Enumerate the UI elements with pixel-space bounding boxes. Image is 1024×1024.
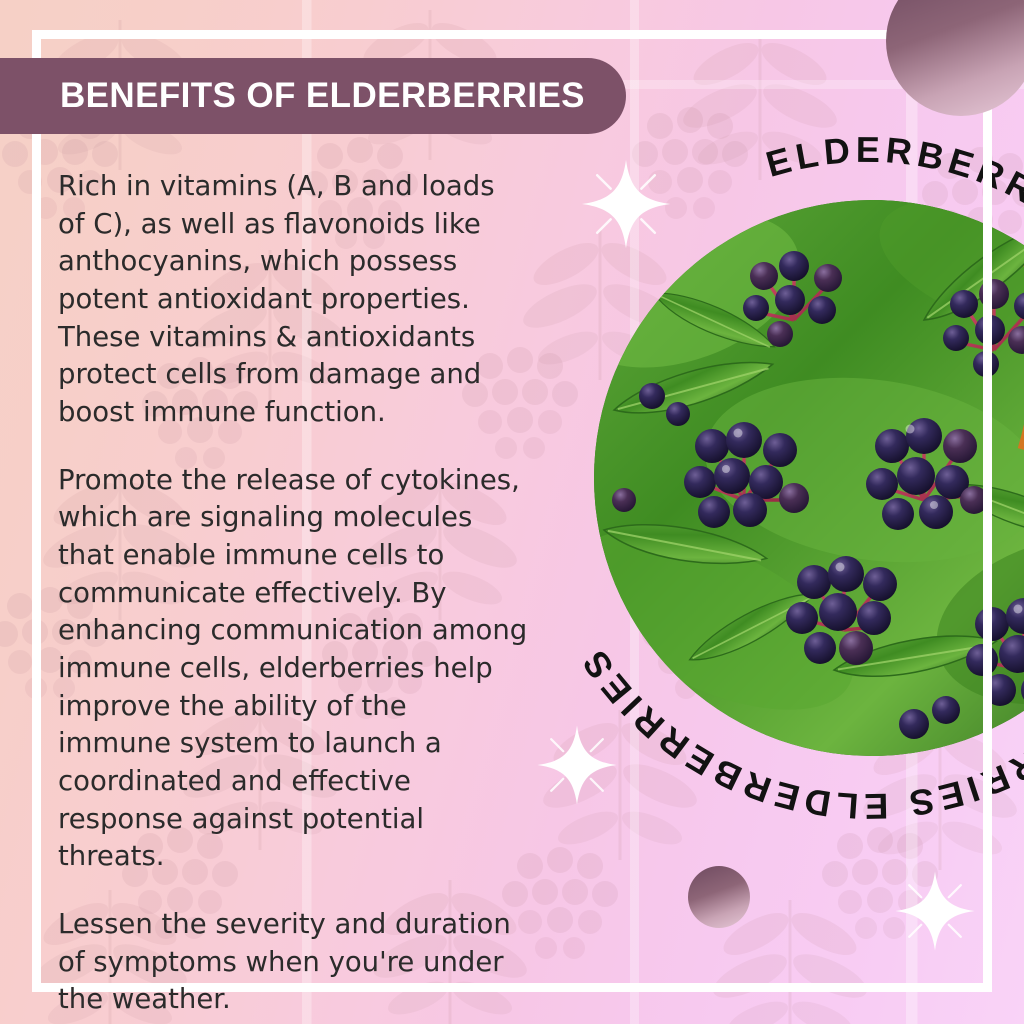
paragraph-1: Rich in vitamins (A, B and loads of C), … [58, 168, 528, 432]
page-title: BENEFITS OF ELDERBERRIES [0, 76, 585, 116]
body-copy: Rich in vitamins (A, B and loads of C), … [58, 168, 528, 1019]
decorative-circle-top-right [886, 0, 1024, 116]
paragraph-2: Promote the release of cytokines, which … [58, 462, 528, 876]
title-banner: BENEFITS OF ELDERBERRIES [0, 58, 626, 134]
paragraph-3: Lessen the severity and duration of symp… [58, 906, 528, 1019]
circular-ring-text: ELDERBERRIES ELDERBERRIES ELDERBERRIES E… [508, 118, 1024, 838]
svg-text:ELDERBERRIES ELDERBERRIES EL: ELDERBERRIES ELDERBERRIES ELDERBERRIES E… [571, 129, 1024, 827]
sparkle-icon [892, 868, 978, 954]
poster-canvas: ELDERBERRIES ELDERBERRIES ELDERBERRIES E… [0, 0, 1024, 1024]
decorative-circle-bottom [688, 866, 750, 928]
ring-text-path: ELDERBERRIES ELDERBERRIES ELDERBERRIES E… [571, 129, 1024, 827]
